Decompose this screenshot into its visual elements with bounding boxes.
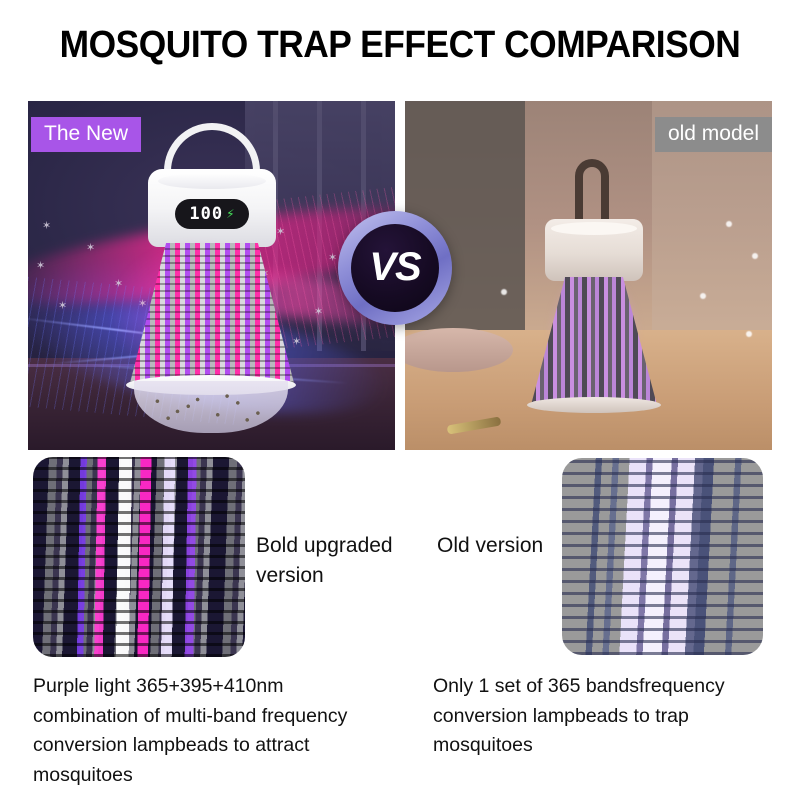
vs-label: VS: [369, 245, 420, 290]
label-bold-upgraded-version: Bold upgraded version: [256, 531, 426, 591]
lightning-bolt-icon: ⚡: [226, 208, 234, 220]
label-old-version: Old version: [437, 531, 587, 561]
battery-display: 100 ⚡: [175, 199, 249, 229]
device-top-cap: 100 ⚡: [148, 169, 276, 247]
old-model-device: [523, 159, 665, 419]
vs-badge: VS: [338, 211, 452, 325]
badge-new: The New: [31, 117, 141, 152]
device-top-cap: [545, 219, 643, 281]
led-beads: [562, 458, 763, 655]
device-base: [527, 397, 661, 413]
collection-base: [134, 381, 288, 433]
battery-level-value: 100: [189, 204, 223, 224]
page-title: MOSQUITO TRAP EFFECT COMPARISON: [28, 24, 772, 67]
description-old-model: Only 1 set of 365 bandsfrequency convers…: [433, 672, 785, 761]
description-new-model: Purple light 365+395+410nm combination o…: [33, 672, 393, 791]
badge-old: old model: [655, 117, 772, 152]
infographic-page: MOSQUITO TRAP EFFECT COMPARISON ✶ ✶ ✶: [0, 0, 800, 800]
detail-photo-new[interactable]: [33, 457, 245, 657]
detail-photo-old[interactable]: [562, 458, 763, 655]
trapped-mosquitoes: [144, 391, 278, 425]
vs-badge-core: VS: [351, 224, 439, 312]
photo-old-model[interactable]: old model: [405, 101, 772, 450]
new-model-device: 100 ⚡: [116, 123, 306, 433]
led-beads: [33, 457, 245, 657]
